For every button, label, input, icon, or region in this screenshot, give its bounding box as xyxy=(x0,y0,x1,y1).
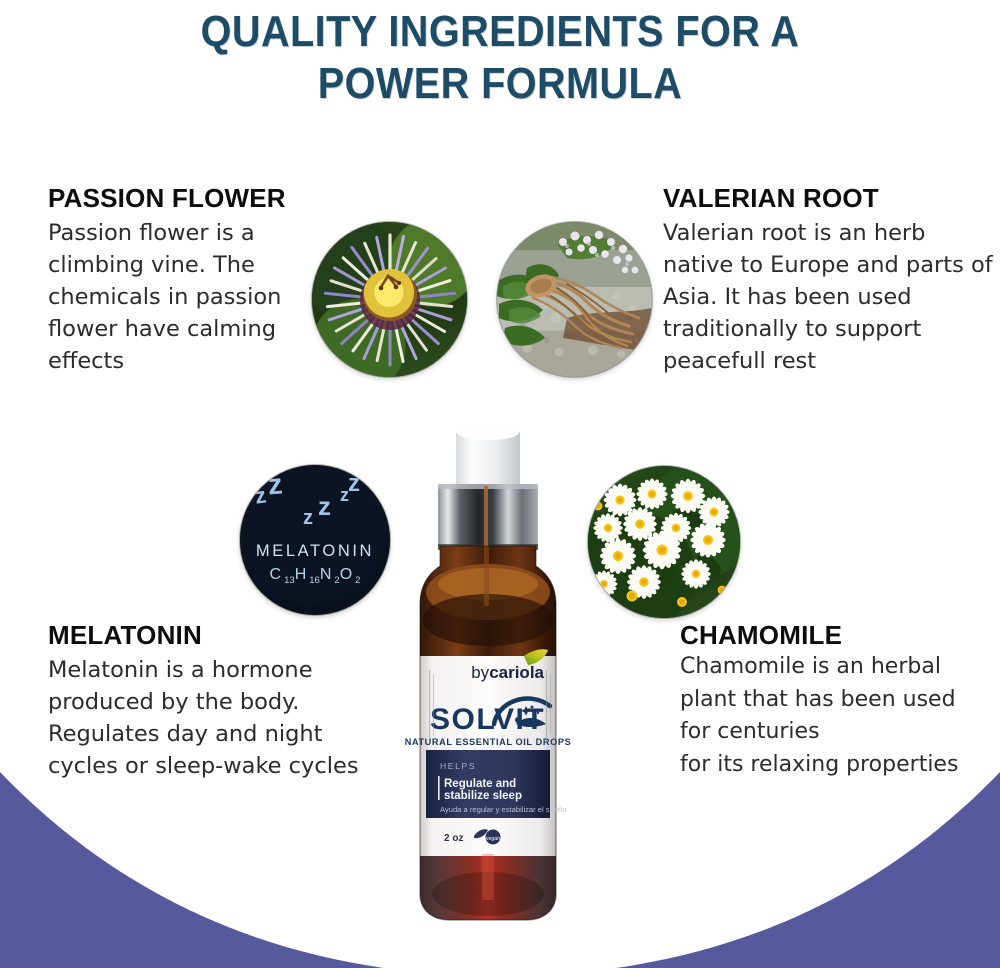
ingredient-block-melatonin: MELATONIN Melatonin is a hormone produce… xyxy=(48,620,368,783)
melatonin-chemical-formula: C13H16N2O2 xyxy=(240,566,390,586)
ingredient-heading-valerian-root: VALERIAN ROOT xyxy=(663,183,993,214)
page-title-line-1: QUALITY INGREDIENTS FOR A xyxy=(201,7,800,56)
helps-label: HELPS xyxy=(440,761,476,771)
ingredient-heading-chamomile: CHAMOMILE xyxy=(680,620,990,651)
ingredient-heading-passion-flower: PASSION FLOWER xyxy=(48,183,348,214)
svg-text:bycariola: bycariola xyxy=(471,663,544,682)
ingredient-block-passion-flower: PASSION FLOWER Passion flower is a climb… xyxy=(48,183,348,378)
poster-canvas: QUALITY INGREDIENTS FOR A POWER FORMULA … xyxy=(0,0,1000,968)
brand-prefix: by xyxy=(471,663,489,682)
product-bottle: bycariola SOLVIT NATURAL ESSENTIAL OIL D… xyxy=(398,424,578,924)
ingredient-block-valerian-root: VALERIAN ROOT Valerian root is an herb n… xyxy=(663,183,993,378)
sleep-z-icon: z xyxy=(253,482,268,509)
melatonin-badge-name: MELATONIN xyxy=(240,542,390,561)
page-title: QUALITY INGREDIENTS FOR A POWER FORMULA xyxy=(50,6,950,110)
bottle-label xyxy=(418,656,558,856)
vegan-badge-text: vegan xyxy=(486,836,500,842)
benefit-line-1: Regulate and xyxy=(444,778,516,790)
chamomile-icon xyxy=(588,466,740,618)
benefit-line-2: stabilize sleep xyxy=(444,790,522,802)
sleep-z-icon: z xyxy=(348,470,360,498)
ingredient-heading-melatonin: MELATONIN xyxy=(48,620,368,651)
ingredient-block-chamomile: CHAMOMILE Chamomile is an herbal plant t… xyxy=(680,620,990,781)
ingredient-body-melatonin: Melatonin is a hormone produced by the b… xyxy=(48,655,368,783)
ingredient-body-chamomile: Chamomile is an herbal plant that has be… xyxy=(680,651,990,781)
dropper-collar xyxy=(438,484,538,550)
page-title-line-2: POWER FORMULA xyxy=(50,58,950,110)
ingredient-body-passion-flower: Passion flower is a climbing vine. The c… xyxy=(48,218,348,378)
dropper-bulb xyxy=(456,424,520,486)
melatonin-molecule-icon: z z z z z z MELATONIN C13H16N2O2 xyxy=(240,465,390,615)
sleep-z-icon: z xyxy=(303,507,313,530)
brand-name: cariola xyxy=(489,663,544,682)
sleep-z-icon: z xyxy=(318,491,331,522)
valerian-root-icon xyxy=(497,222,652,377)
benefit-spanish: Ayuda a regular y estabilizar el sueño xyxy=(440,805,567,814)
ingredient-body-valerian-root: Valerian root is an herb native to Europ… xyxy=(663,218,993,378)
volume-label: 2 oz xyxy=(444,833,463,844)
product-name: SOLVIT xyxy=(430,703,545,736)
sleep-z-icon: z xyxy=(267,469,284,503)
